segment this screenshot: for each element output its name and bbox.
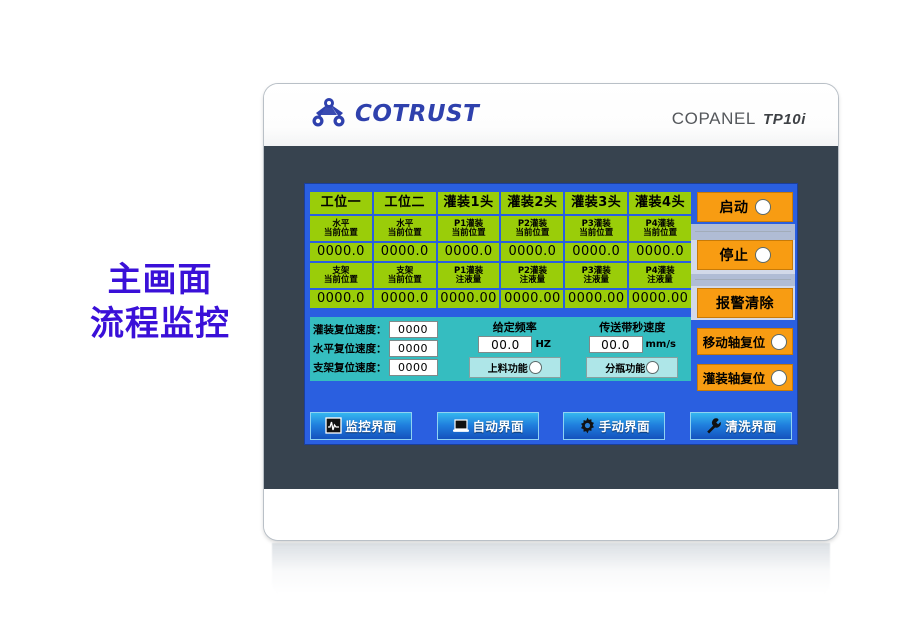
column-header: 灌装1头 xyxy=(438,192,500,214)
speed-input[interactable]: 0000 xyxy=(389,359,438,376)
column-value-1[interactable]: 0000.0 xyxy=(501,243,563,261)
speed-input[interactable]: 0000 xyxy=(389,321,438,338)
stop-indicator-icon xyxy=(755,247,771,263)
speed-row: 灌装复位速度： 0000 xyxy=(313,321,456,338)
brand-name: COTRUST xyxy=(355,101,479,127)
column-value-2[interactable]: 0000.0 xyxy=(374,290,436,308)
column-header: 工位二 xyxy=(374,192,436,214)
hmi-device: COTRUST COPANEL TP10i 工位一 水平 当前位置 0000.0… xyxy=(264,84,838,540)
conveyor-title: 传送带秒速度 xyxy=(574,319,692,335)
cotrust-logo-icon xyxy=(312,98,348,130)
column-label-2: P2灌装 注液量 xyxy=(501,263,563,288)
column-value-2[interactable]: 0000.00 xyxy=(438,290,500,308)
column-value-1[interactable]: 0000.0 xyxy=(565,243,627,261)
speed-label: 灌装复位速度： xyxy=(313,322,387,337)
alarm-clear-button-label: 报警清除 xyxy=(716,293,774,313)
stop-button-label: 停止 xyxy=(720,245,749,265)
frequency-title: 给定频率 xyxy=(456,319,574,335)
start-button-label: 启动 xyxy=(720,197,749,217)
column-header: 灌装3头 xyxy=(565,192,627,214)
table-column: 灌装3头 P3灌装 当前位置 0000.0 P3灌装 注液量 0000.00 xyxy=(565,192,627,313)
move-axis-reset-label: 移动轴复位 xyxy=(703,332,766,351)
background-artifact xyxy=(691,224,795,240)
conveyor-unit: mm/s xyxy=(646,339,676,350)
column-label-2: 支架 当前位置 xyxy=(374,263,436,288)
model-number: TP10i xyxy=(763,111,806,128)
column-value-2[interactable]: 0000.00 xyxy=(565,290,627,308)
start-button[interactable]: 启动 xyxy=(697,192,793,222)
column-value-1[interactable]: 0000.0 xyxy=(629,243,691,261)
stop-button[interactable]: 停止 xyxy=(697,240,793,270)
column-value-2[interactable]: 0000.0 xyxy=(310,290,372,308)
frequency-group: 给定频率 00.0 HZ 上料功能 xyxy=(456,317,574,381)
column-header: 灌装4头 xyxy=(629,192,691,214)
control-panel: 灌装复位速度： 0000 水平复位速度： 0000 支架复位速度： 0000 给… xyxy=(310,317,691,381)
column-label-1: P2灌装 当前位置 xyxy=(501,216,563,241)
feed-function-indicator-icon xyxy=(529,361,542,374)
column-label-2: P1灌装 注液量 xyxy=(438,263,500,288)
laptop-icon xyxy=(452,418,470,434)
filling-axis-reset-button[interactable]: 灌装轴复位 xyxy=(697,364,793,391)
waveform-icon xyxy=(325,417,342,434)
nav-monitor-screen[interactable]: 监控界面 xyxy=(310,412,412,440)
bottle-split-indicator-icon xyxy=(646,361,659,374)
column-header: 工位一 xyxy=(310,192,372,214)
product-name: COPANEL xyxy=(672,109,756,129)
feed-function-button[interactable]: 上料功能 xyxy=(469,357,561,378)
frequency-unit: HZ xyxy=(535,339,551,350)
column-value-2[interactable]: 0000.00 xyxy=(629,290,691,308)
table-column: 灌装2头 P2灌装 当前位置 0000.0 P2灌装 注液量 0000.00 xyxy=(501,192,563,313)
column-value-1[interactable]: 0000.0 xyxy=(438,243,500,261)
column-label-1: P1灌装 当前位置 xyxy=(438,216,500,241)
gear-icon xyxy=(579,417,596,434)
speed-label: 水平复位速度： xyxy=(313,341,387,356)
device-reflection xyxy=(272,543,830,595)
feed-function-label: 上料功能 xyxy=(488,360,528,375)
frequency-input[interactable]: 00.0 xyxy=(478,336,532,353)
brand-logo: COTRUST xyxy=(312,98,479,130)
background-artifact xyxy=(691,274,795,286)
nav-auto-screen[interactable]: 自动界面 xyxy=(437,412,539,440)
wrench-icon xyxy=(705,417,722,434)
filling-axis-reset-label: 灌装轴复位 xyxy=(703,368,766,387)
column-value-1[interactable]: 0000.0 xyxy=(310,243,372,261)
column-label-1: 水平 当前位置 xyxy=(310,216,372,241)
alarm-clear-button[interactable]: 报警清除 xyxy=(697,288,793,318)
function-settings-group: 给定频率 00.0 HZ 上料功能 传送带秒速度 00.0 mm/s xyxy=(456,317,691,381)
nav-manual-screen[interactable]: 手动界面 xyxy=(563,412,665,440)
device-bottom-bezel xyxy=(264,489,838,540)
speed-settings-group: 灌装复位速度： 0000 水平复位速度： 0000 支架复位速度： 0000 xyxy=(310,317,456,381)
table-column: 灌装1头 P1灌装 当前位置 0000.0 P1灌装 注液量 0000.00 xyxy=(438,192,500,313)
column-label-2: 支架 当前位置 xyxy=(310,263,372,288)
speed-row: 水平复位速度： 0000 xyxy=(313,340,456,357)
caption-line-2: 流程监控 xyxy=(60,302,260,346)
hmi-screen[interactable]: 工位一 水平 当前位置 0000.0 支架 当前位置 0000.0 工位二 水平… xyxy=(305,184,797,444)
nav-clean-label: 清洗界面 xyxy=(725,416,776,435)
speed-input[interactable]: 0000 xyxy=(389,340,438,357)
nav-manual-label: 手动界面 xyxy=(599,416,650,435)
speed-row: 支架复位速度： 0000 xyxy=(313,359,456,376)
column-label-2: P3灌装 注液量 xyxy=(565,263,627,288)
bottle-split-function-label: 分瓶功能 xyxy=(605,360,645,375)
product-model: COPANEL TP10i xyxy=(672,109,806,129)
table-column: 工位一 水平 当前位置 0000.0 支架 当前位置 0000.0 xyxy=(310,192,372,313)
nav-monitor-label: 监控界面 xyxy=(345,416,396,435)
conveyor-input[interactable]: 00.0 xyxy=(589,336,643,353)
nav-auto-label: 自动界面 xyxy=(473,416,524,435)
table-column: 灌装4头 P4灌装 当前位置 0000.0 P4灌装 注液量 0000.00 xyxy=(629,192,691,313)
background-artifact xyxy=(695,231,791,232)
nav-clean-screen[interactable]: 清洗界面 xyxy=(690,412,792,440)
column-label-2: P4灌装 注液量 xyxy=(629,263,691,288)
column-label-1: P4灌装 当前位置 xyxy=(629,216,691,241)
filling-axis-indicator-icon xyxy=(771,370,787,386)
column-label-1: 水平 当前位置 xyxy=(374,216,436,241)
page-caption: 主画面 流程监控 xyxy=(60,258,260,346)
conveyor-group: 传送带秒速度 00.0 mm/s 分瓶功能 xyxy=(574,317,692,381)
move-axis-reset-button[interactable]: 移动轴复位 xyxy=(697,328,793,355)
navigation-bar: 监控界面 自动界面 手动界面 清洗界面 xyxy=(310,410,792,441)
column-value-1[interactable]: 0000.0 xyxy=(374,243,436,261)
speed-label: 支架复位速度： xyxy=(313,360,387,375)
column-value-2[interactable]: 0000.00 xyxy=(501,290,563,308)
caption-line-1: 主画面 xyxy=(60,258,260,302)
start-indicator-icon xyxy=(755,199,771,215)
device-top-bezel: COTRUST COPANEL TP10i xyxy=(264,84,838,146)
table-column: 工位二 水平 当前位置 0000.0 支架 当前位置 0000.0 xyxy=(374,192,436,313)
column-label-1: P3灌装 当前位置 xyxy=(565,216,627,241)
bottle-split-function-button[interactable]: 分瓶功能 xyxy=(586,357,678,378)
background-artifact xyxy=(695,279,791,280)
status-table: 工位一 水平 当前位置 0000.0 支架 当前位置 0000.0 工位二 水平… xyxy=(310,192,691,313)
column-header: 灌装2头 xyxy=(501,192,563,214)
move-axis-indicator-icon xyxy=(771,334,787,350)
